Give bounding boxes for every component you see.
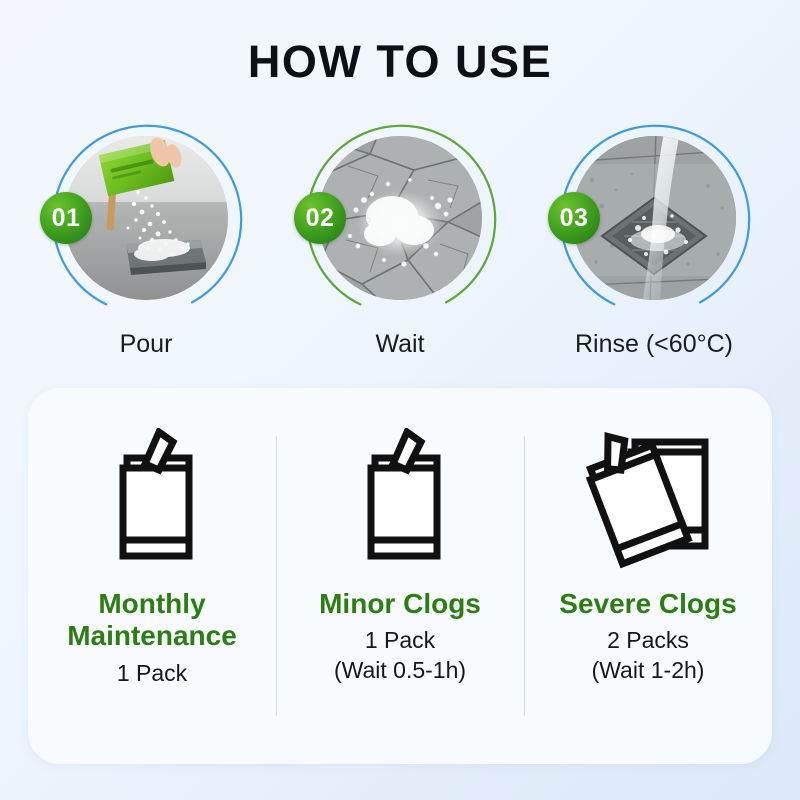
usage-title-minor-clogs: Minor Clogs: [319, 588, 481, 620]
usage-column-monthly-maintenance: Monthly Maintenance 1 Pack: [28, 388, 276, 764]
double-sachet-icon: [573, 428, 723, 570]
steps-row: 01 Pour: [0, 118, 800, 359]
usage-sub-severe-clogs: 2 Packs (Wait 1-2h): [592, 626, 705, 686]
step-02-circle: 02: [300, 118, 500, 318]
usage-wait: (Wait 0.5-1h): [334, 656, 466, 686]
usage-title-line-1: Monthly: [67, 588, 237, 620]
usage-amount: 1 Pack: [117, 659, 187, 689]
step-02-badge: 02: [294, 192, 346, 244]
step-03-label: Rinse (<60°C): [575, 330, 733, 359]
infographic-page: HOW TO USE: [0, 0, 800, 800]
step-02: 02 Wait: [294, 118, 506, 359]
usage-column-severe-clogs: Severe Clogs 2 Packs (Wait 1-2h): [524, 388, 772, 764]
step-03-number: 03: [560, 204, 589, 233]
step-01-circle: 01: [46, 118, 246, 318]
usage-wait: (Wait 1-2h): [592, 656, 705, 686]
usage-title-line-2: Maintenance: [67, 620, 237, 652]
usage-sub-minor-clogs: 1 Pack (Wait 0.5-1h): [334, 626, 466, 686]
single-open-sachet-icon: [345, 428, 455, 570]
step-03-badge: 03: [548, 192, 600, 244]
usage-title-monthly-maintenance: Monthly Maintenance: [67, 588, 237, 653]
usage-amount: 2 Packs: [592, 626, 705, 656]
usage-amount: 1 Pack: [334, 626, 466, 656]
step-02-number: 02: [306, 204, 335, 233]
step-01-badge: 01: [40, 192, 92, 244]
step-01-number: 01: [52, 204, 81, 233]
usage-title-line-1: Severe Clogs: [559, 588, 736, 620]
usage-sub-monthly-maintenance: 1 Pack: [117, 659, 187, 689]
step-02-label: Wait: [375, 330, 424, 359]
step-03: 03 Rinse (<60°C): [548, 118, 760, 359]
usage-card: Monthly Maintenance 1 Pack: [28, 388, 772, 764]
usage-title-line-1: Minor Clogs: [319, 588, 481, 620]
single-open-sachet-icon: [97, 428, 207, 570]
page-title: HOW TO USE: [0, 36, 800, 88]
step-03-circle: 03: [554, 118, 754, 318]
usage-title-severe-clogs: Severe Clogs: [559, 588, 736, 620]
step-01-label: Pour: [120, 330, 173, 359]
usage-column-minor-clogs: Minor Clogs 1 Pack (Wait 0.5-1h): [276, 388, 524, 764]
step-01: 01 Pour: [40, 118, 252, 359]
